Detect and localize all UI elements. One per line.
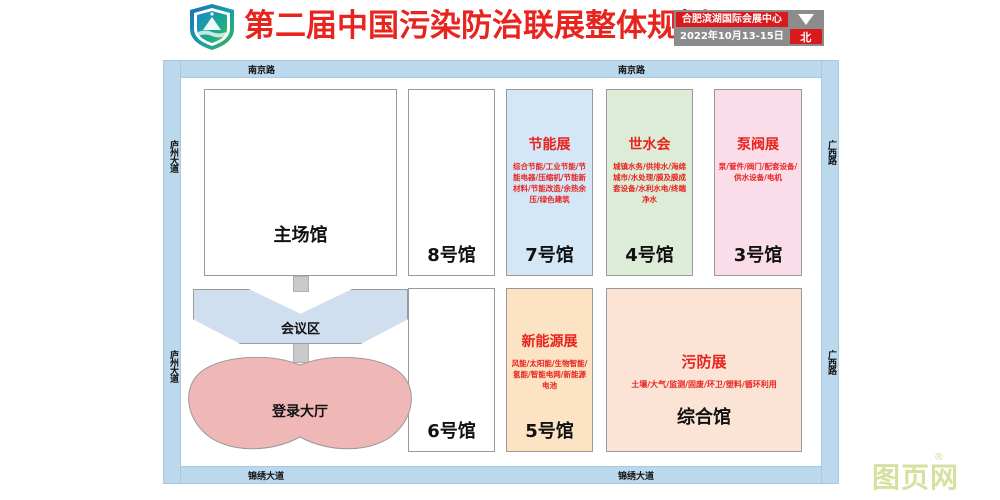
road-label-bottom-right: 锦绣大道	[618, 469, 654, 482]
road-label-bottom-left: 锦绣大道	[248, 469, 284, 482]
road-label-top-left: 南京路	[248, 63, 275, 76]
hall-main-label: 主场馆	[205, 221, 396, 247]
hall-5-categories: 风能/太阳能/生物智能/氢能/智能电网/新能源电池	[507, 358, 592, 391]
conference-area[interactable]: 会议区	[193, 289, 408, 344]
road-label-top-right: 南京路	[618, 63, 645, 76]
venue-badge: 合肥滨湖国际会展中心 2022年10月13-15日 北	[674, 10, 824, 46]
hall-7-theme: 节能展	[529, 134, 571, 154]
conference-area-label: 会议区	[193, 318, 408, 337]
venue-name: 合肥滨湖国际会展中心	[676, 12, 788, 27]
hall-7[interactable]: 节能展 综合节能/工业节能/节能电器/压缩机/节能新材料/节能改造/余热余压/绿…	[506, 89, 593, 276]
page-title: 第二届中国污染防治联展整体规划图	[244, 6, 740, 46]
hall-7-categories: 综合节能/工业节能/节能电器/压缩机/节能新材料/节能改造/余热余压/绿色建筑	[507, 161, 592, 205]
hall-comprehensive[interactable]: 污防展 土壤/大气/监测/固废/环卫/塑料/循环利用 综合馆	[606, 288, 802, 452]
hall-6-label: 6号馆	[409, 417, 494, 443]
compass: 北	[790, 12, 822, 44]
hall-4[interactable]: 世水会 城镇水务/供排水/海绵城市/水处理/膜及膜成套设备/水利水电/终端净水 …	[606, 89, 693, 276]
hall-comprehensive-theme: 污防展	[681, 351, 726, 372]
hall-comprehensive-categories: 土壤/大气/监测/固废/环卫/塑料/循环利用	[628, 379, 780, 390]
registration-lobby[interactable]: 登录大厅	[185, 357, 415, 453]
hall-3-label: 3号馆	[715, 241, 801, 267]
watermark-registered-icon: ®	[934, 452, 944, 463]
hall-5-theme: 新能源展	[522, 331, 578, 351]
hall-7-label: 7号馆	[507, 241, 592, 267]
compass-north-label: 北	[790, 29, 822, 44]
hall-4-categories: 城镇水务/供排水/海绵城市/水处理/膜及膜成套设备/水利水电/终端净水	[607, 161, 692, 205]
registration-lobby-label: 登录大厅	[185, 401, 415, 421]
venue-dates: 2022年10月13-15日	[676, 29, 788, 44]
hall-5[interactable]: 新能源展 风能/太阳能/生物智能/氢能/智能电网/新能源电池 5号馆	[506, 288, 593, 452]
venue-badge-texts: 合肥滨湖国际会展中心 2022年10月13-15日	[676, 12, 788, 44]
road-luzhou-west	[163, 60, 181, 484]
shield-logo-icon	[187, 3, 237, 51]
hall-6[interactable]: 6号馆	[408, 288, 495, 452]
hall-8-label: 8号馆	[409, 241, 494, 267]
road-label-right-lower: 广西路	[826, 350, 835, 374]
hall-3[interactable]: 泵阀展 泵/管件/阀门/配套设备/供水设备/电机 3号馆	[714, 89, 802, 276]
venue-map: 南京路 南京路 锦绣大道 锦绣大道 庐州大道 庐州大道 广西路 广西路 主场馆 …	[163, 60, 839, 484]
page-header: 第二届中国污染防治联展整体规划图 合肥滨湖国际会展中心 2022年10月13-1…	[0, 0, 1000, 56]
road-label-left-lower: 庐州大道	[168, 350, 177, 382]
road-guangxi-east	[821, 60, 839, 484]
watermark-text: 图页网	[872, 456, 959, 496]
hall-4-theme: 世水会	[629, 134, 671, 154]
hall-3-theme: 泵阀展	[737, 134, 779, 154]
road-label-left-upper: 庐州大道	[168, 140, 177, 172]
hall-5-label: 5号馆	[507, 417, 592, 443]
road-label-right-upper: 广西路	[826, 140, 835, 164]
compass-arrow-icon	[790, 12, 822, 27]
hall-main[interactable]: 主场馆	[204, 89, 397, 276]
hall-comprehensive-label: 综合馆	[607, 403, 801, 429]
hall-4-label: 4号馆	[607, 241, 692, 267]
hall-3-categories: 泵/管件/阀门/配套设备/供水设备/电机	[715, 161, 801, 183]
hall-8[interactable]: 8号馆	[408, 89, 495, 276]
